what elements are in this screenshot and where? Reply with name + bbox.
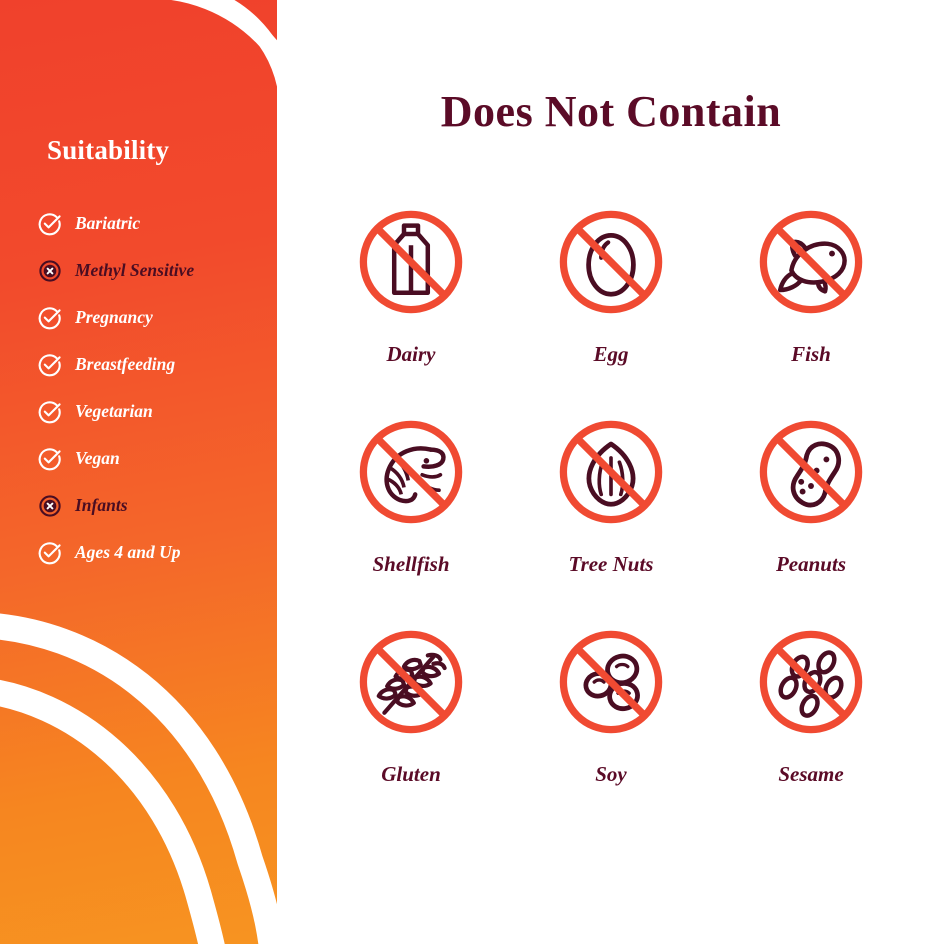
allergen-label: Dairy bbox=[387, 342, 436, 367]
allergen-label: Soy bbox=[595, 762, 627, 787]
no-fish-badge-icon bbox=[741, 192, 881, 332]
check-circle-icon bbox=[38, 447, 62, 471]
allergen-grid: Dairy Egg bbox=[311, 192, 911, 822]
allergen-label: Tree Nuts bbox=[569, 552, 654, 577]
allergen-cell-gluten[interactable]: Gluten bbox=[311, 612, 511, 822]
suitability-sidebar: Suitability Bariatric Methyl Sensi bbox=[0, 0, 277, 944]
allergen-info-card: Suitability Bariatric Methyl Sensi bbox=[0, 0, 945, 944]
suitability-item-label: Breastfeeding bbox=[75, 354, 175, 375]
suitability-item-pregnancy[interactable]: Pregnancy bbox=[38, 294, 277, 341]
allergen-cell-egg[interactable]: Egg bbox=[511, 192, 711, 402]
check-circle-icon bbox=[38, 212, 62, 236]
suitability-item-label: Ages 4 and Up bbox=[75, 542, 181, 563]
no-dairy-badge-icon bbox=[341, 192, 481, 332]
top-right-arc-inner bbox=[150, 0, 277, 148]
suitability-item-label: Bariatric bbox=[75, 213, 140, 234]
no-peanuts-badge-icon bbox=[741, 402, 881, 542]
suitability-item-label: Vegetarian bbox=[75, 401, 153, 422]
suitability-item-infants[interactable]: Infants bbox=[38, 482, 277, 529]
page-title: Does Not Contain bbox=[277, 86, 945, 137]
check-circle-icon bbox=[38, 353, 62, 377]
no-gluten-badge-icon bbox=[341, 612, 481, 752]
allergen-cell-fish[interactable]: Fish bbox=[711, 192, 911, 402]
does-not-contain-panel: Does Not Contain Dairy bbox=[277, 0, 945, 944]
allergen-label: Peanuts bbox=[776, 552, 846, 577]
no-shellfish-badge-icon bbox=[341, 402, 481, 542]
x-circle-icon bbox=[38, 259, 62, 283]
sidebar-title: Suitability bbox=[47, 135, 169, 166]
suitability-item-label: Infants bbox=[75, 495, 128, 516]
check-circle-icon bbox=[38, 541, 62, 565]
check-circle-icon bbox=[38, 400, 62, 424]
allergen-label: Sesame bbox=[778, 762, 843, 787]
suitability-item-breastfeeding[interactable]: Breastfeeding bbox=[38, 341, 277, 388]
suitability-item-vegan[interactable]: Vegan bbox=[38, 435, 277, 482]
allergen-cell-sesame[interactable]: Sesame bbox=[711, 612, 911, 822]
prohibition-slash bbox=[777, 228, 844, 295]
allergen-cell-shellfish[interactable]: Shellfish bbox=[311, 402, 511, 612]
suitability-item-ages-4-and-up[interactable]: Ages 4 and Up bbox=[38, 529, 277, 576]
suitability-item-label: Methyl Sensitive bbox=[75, 260, 194, 281]
suitability-item-label: Vegan bbox=[75, 448, 120, 469]
allergen-label: Egg bbox=[593, 342, 628, 367]
allergen-cell-dairy[interactable]: Dairy bbox=[311, 192, 511, 402]
suitability-item-bariatric[interactable]: Bariatric bbox=[38, 200, 277, 247]
suitability-item-vegetarian[interactable]: Vegetarian bbox=[38, 388, 277, 435]
check-circle-icon bbox=[38, 306, 62, 330]
x-circle-icon bbox=[38, 494, 62, 518]
no-egg-badge-icon bbox=[541, 192, 681, 332]
suitability-item-methyl-sensitive[interactable]: Methyl Sensitive bbox=[38, 247, 277, 294]
suitability-item-label: Pregnancy bbox=[75, 307, 153, 328]
allergen-label: Shellfish bbox=[372, 552, 449, 577]
suitability-list: Bariatric Methyl Sensitive Pregna bbox=[38, 200, 277, 576]
allergen-cell-soy[interactable]: Soy bbox=[511, 612, 711, 822]
no-tree-nuts-badge-icon bbox=[541, 402, 681, 542]
allergen-cell-peanuts[interactable]: Peanuts bbox=[711, 402, 911, 612]
allergen-label: Fish bbox=[791, 342, 831, 367]
allergen-cell-tree-nuts[interactable]: Tree Nuts bbox=[511, 402, 711, 612]
no-sesame-badge-icon bbox=[741, 612, 881, 752]
allergen-label: Gluten bbox=[381, 762, 441, 787]
no-soy-badge-icon bbox=[541, 612, 681, 752]
